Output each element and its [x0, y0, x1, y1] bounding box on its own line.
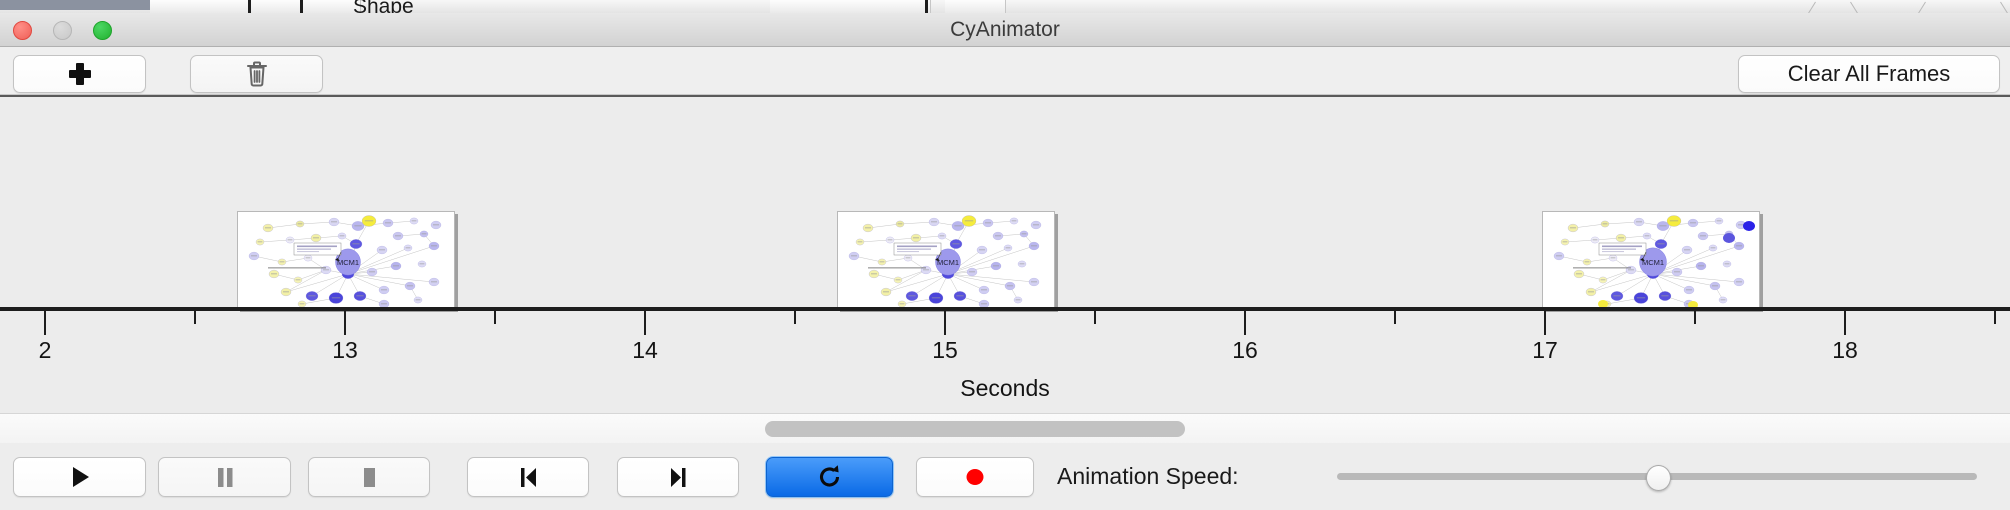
axis-tick-label: 14	[632, 337, 658, 364]
skip-to-start-button[interactable]	[467, 457, 589, 497]
background-window-tab	[150, 0, 256, 13]
axis-tick-label: 17	[1532, 337, 1558, 364]
play-icon	[65, 462, 95, 492]
svg-text:MCM1: MCM1	[337, 258, 359, 267]
delete-frame-button[interactable]	[190, 55, 323, 93]
axis-tick-label: 15	[932, 337, 958, 364]
title-bar[interactable]: CyAnimator	[0, 13, 2010, 47]
background-window-strip: Shape	[0, 0, 2010, 14]
pause-button	[158, 457, 291, 497]
axis-tick-minor	[194, 311, 196, 324]
loop-icon	[815, 462, 845, 492]
frames-track[interactable]: MCM1MCM1MCM1	[0, 97, 2010, 309]
window-title: CyAnimator	[0, 13, 2010, 46]
axis-title: Seconds	[0, 375, 2010, 402]
axis-tick-minor	[494, 311, 496, 324]
zoom-button[interactable]	[93, 21, 112, 40]
axis-tick-minor	[1394, 311, 1396, 324]
animation-speed-label: Animation Speed:	[1057, 443, 1239, 510]
skip-back-icon	[513, 462, 543, 492]
cyanimator-window: Shape CyAnimator Clear All Frames	[0, 0, 2010, 510]
trash-icon	[245, 60, 269, 88]
record-icon	[960, 462, 990, 492]
frame-thumbnail[interactable]: MCM1	[837, 211, 1055, 309]
frame-thumbnail[interactable]: MCM1	[1542, 211, 1760, 309]
background-window-tab	[945, 0, 1006, 13]
svg-text:MCM1: MCM1	[937, 258, 959, 267]
axis-tick-major	[1244, 311, 1246, 335]
background-window-tab	[255, 0, 306, 13]
axis-tick-major	[1844, 311, 1846, 335]
playback-control-bar: Animation Speed:	[0, 443, 2010, 510]
pause-icon	[210, 462, 240, 492]
background-window-mark	[300, 0, 303, 13]
close-button[interactable]	[13, 21, 32, 40]
timeline-horizontal-scrollbar[interactable]	[0, 413, 2010, 445]
add-frame-button[interactable]	[13, 55, 146, 93]
timeline-panel[interactable]: MCM1MCM1MCM1 2131415161718 Seconds	[0, 95, 2010, 415]
axis-tick-label: 13	[332, 337, 358, 364]
loop-button[interactable]	[766, 457, 893, 497]
stop-icon	[354, 462, 384, 492]
axis-line	[0, 307, 2010, 311]
axis-tick-minor	[1094, 311, 1096, 324]
play-button[interactable]	[13, 457, 146, 497]
axis-tick-label: 18	[1832, 337, 1858, 364]
minimize-button[interactable]	[53, 21, 72, 40]
skip-forward-icon	[663, 462, 693, 492]
clear-all-frames-button[interactable]: Clear All Frames	[1738, 55, 2000, 93]
axis-tick-minor	[1994, 311, 1996, 324]
scrollbar-thumb[interactable]	[765, 421, 1185, 437]
stop-button	[308, 457, 430, 497]
toolbar: Clear All Frames	[0, 47, 2010, 95]
skip-to-end-button[interactable]	[617, 457, 739, 497]
axis-tick-minor	[794, 311, 796, 324]
axis-tick-major	[44, 311, 46, 335]
background-window-mark	[925, 0, 928, 13]
plus-icon	[67, 61, 93, 87]
axis-tick-major	[1544, 311, 1546, 335]
frame-thumbnail[interactable]: MCM1	[237, 211, 455, 309]
slider-thumb[interactable]	[1646, 465, 1671, 491]
record-button[interactable]	[916, 457, 1034, 497]
timeline-axis: 2131415161718 Seconds	[0, 307, 2010, 415]
axis-tick-label: 16	[1232, 337, 1258, 364]
background-window-tab	[770, 0, 931, 13]
animation-speed-slider[interactable]	[1337, 443, 1977, 510]
axis-tick-major	[644, 311, 646, 335]
axis-tick-major	[344, 311, 346, 335]
background-window-mark	[248, 0, 251, 13]
background-window-label: Shape	[353, 0, 414, 14]
axis-tick-minor	[1694, 311, 1696, 324]
axis-tick-label: 2	[39, 337, 52, 364]
axis-tick-major	[944, 311, 946, 335]
svg-text:MCM1: MCM1	[1642, 258, 1664, 267]
background-window-dark-block	[0, 0, 150, 10]
